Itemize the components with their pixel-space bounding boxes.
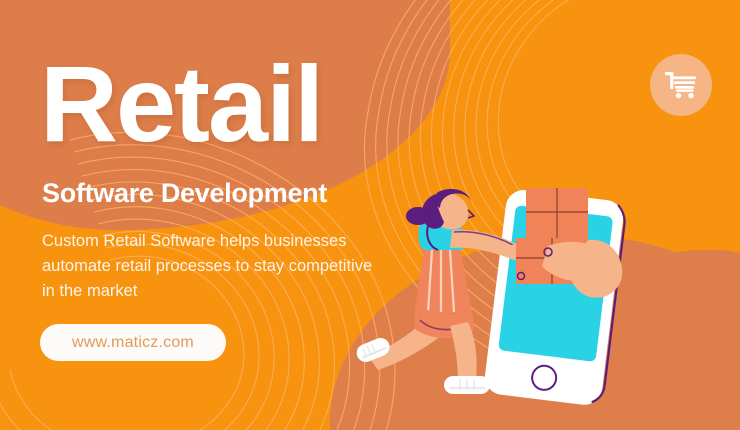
- banner-content: Retail Software Development Custom Retai…: [40, 0, 460, 430]
- shopping-cart-badge[interactable]: [650, 54, 712, 116]
- page-subtitle: Software Development: [42, 178, 327, 208]
- page-title: Retail: [40, 50, 322, 158]
- package-box-top: [526, 188, 588, 240]
- shopping-cart-icon: [664, 70, 698, 100]
- website-cta-button[interactable]: www.maticz.com: [40, 324, 226, 361]
- retail-banner: Retail Software Development Custom Retai…: [0, 0, 740, 430]
- body-copy: Custom Retail Software helps businesses …: [42, 229, 387, 304]
